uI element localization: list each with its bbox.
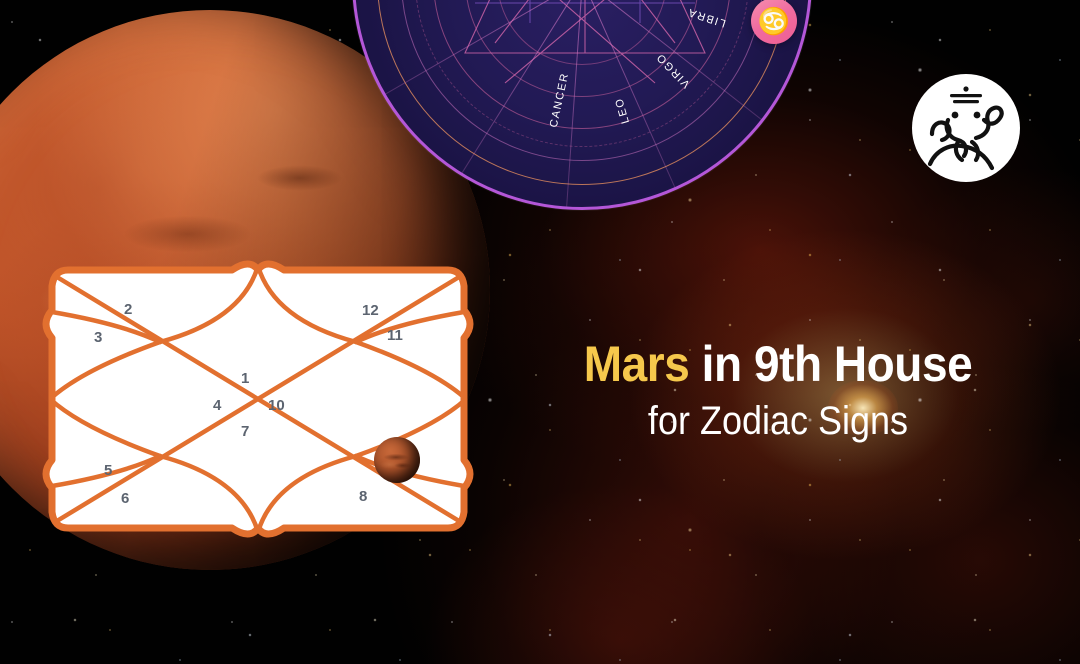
kundli-house-7[interactable]: 7 bbox=[241, 424, 249, 439]
poster-canvas: SAGITTARIUSSCORPIOLIBRAVIRGOLEOCANCER ♐♏… bbox=[0, 0, 1080, 664]
kundli-house-3[interactable]: 3 bbox=[94, 330, 102, 345]
kundli-diagram bbox=[42, 260, 474, 538]
kundli-house-11[interactable]: 11 bbox=[387, 328, 403, 343]
ganesha-logo-icon bbox=[910, 72, 1022, 184]
title-accent-word: Mars bbox=[584, 336, 690, 392]
zodiac-wheel-disc: SAGITTARIUSSCORPIOLIBRAVIRGOLEOCANCER bbox=[352, 0, 812, 210]
page-subtitle: for Zodiac Signs bbox=[535, 400, 1021, 442]
kundli-house-1[interactable]: 1 bbox=[241, 371, 249, 386]
title-rest: in 9th House bbox=[689, 336, 972, 392]
kundli-house-5[interactable]: 5 bbox=[104, 463, 112, 478]
zodiac-natal-wheel: SAGITTARIUSSCORPIOLIBRAVIRGOLEOCANCER ♐♏… bbox=[352, 0, 812, 210]
ganesha-logo[interactable] bbox=[910, 72, 1022, 184]
kundli-house-10[interactable]: 10 bbox=[268, 398, 285, 413]
page-title: Mars in 9th House bbox=[530, 338, 1027, 390]
kundli-house-6[interactable]: 6 bbox=[121, 491, 129, 506]
headline-block: Mars in 9th House for Zodiac Signs bbox=[508, 338, 1048, 442]
kundli-house-12[interactable]: 12 bbox=[362, 303, 379, 318]
kundli-house-4[interactable]: 4 bbox=[213, 398, 221, 413]
kundli-house-8[interactable]: 8 bbox=[359, 489, 367, 504]
kundli-house-2[interactable]: 2 bbox=[124, 302, 132, 317]
zodiac-badge-cancer-icon[interactable]: ♋ bbox=[751, 0, 797, 44]
north-indian-kundli[interactable] bbox=[42, 260, 474, 538]
mars-planet-marker[interactable] bbox=[374, 437, 420, 483]
